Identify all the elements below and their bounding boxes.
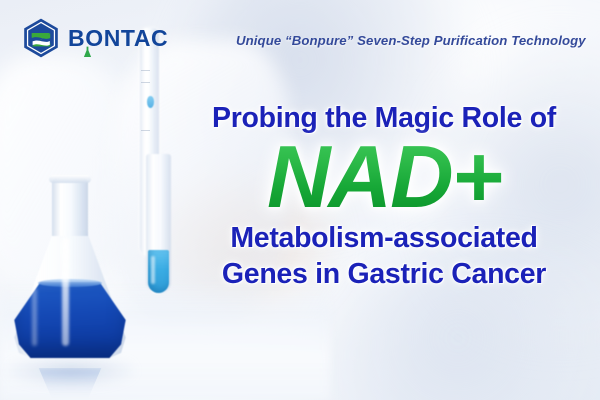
pipette-graduation-mark [141, 82, 150, 83]
headline-highlight-nad: NAD+ [168, 134, 600, 220]
flask-highlight [62, 238, 69, 346]
headline-block: Probing the Magic Role of NAD+ Metabolis… [168, 104, 600, 289]
pipette-graduation-mark [141, 130, 150, 131]
bontac-nad-banner: BONTAC Unique “Bonpure” Seven-Step Purif… [0, 0, 600, 400]
brand-logo[interactable]: BONTAC [20, 17, 168, 59]
bontac-hexagon-logo-icon [20, 17, 62, 59]
erlenmeyer-flask-icon [10, 178, 130, 370]
green-flask-glyph-icon [83, 46, 92, 58]
tagline: Unique “Bonpure” Seven-Step Purification… [236, 33, 586, 48]
headline-line-3: Genes in Gastric Cancer [168, 260, 600, 289]
flask-neck [52, 178, 88, 236]
pipette-graduation-mark [141, 70, 150, 71]
flask-lip [49, 175, 91, 183]
pipette-droplet [147, 96, 154, 108]
flask-liquid [12, 282, 128, 358]
flask-highlight-secondary [32, 288, 37, 346]
flask-meniscus [38, 279, 102, 287]
headline-line-2: Metabolism-associated [168, 224, 600, 253]
test-tube-highlight [151, 256, 155, 284]
